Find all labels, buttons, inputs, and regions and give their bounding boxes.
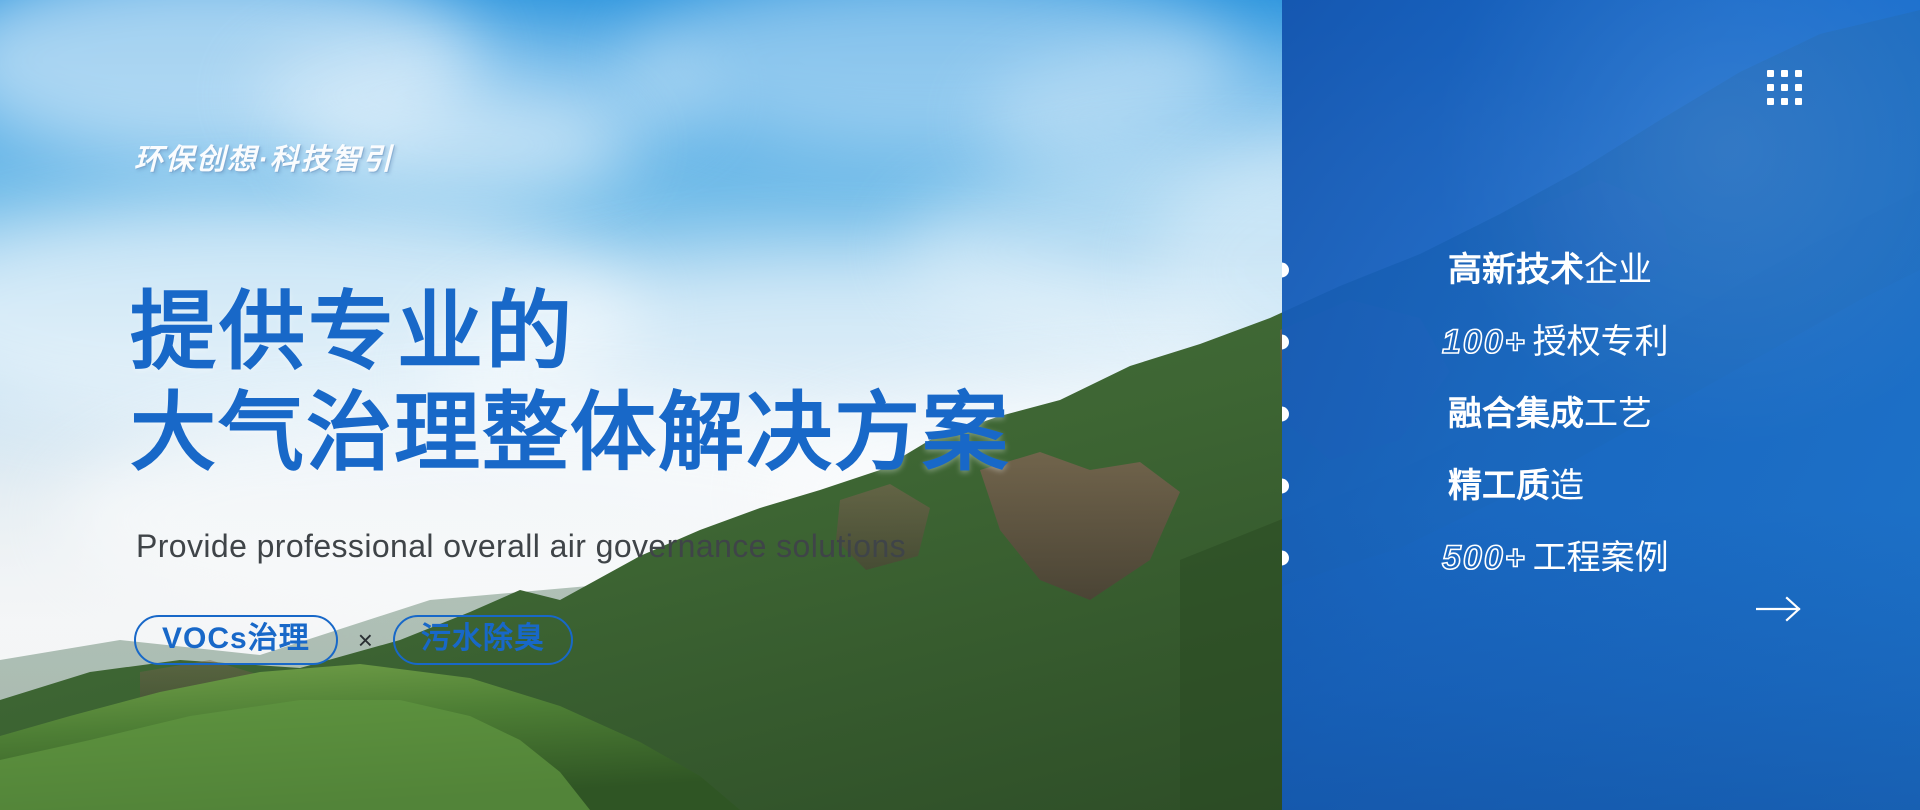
feature-panel: 高新技术企业 100+授权专利 融合集成工艺 精工质造: [1282, 0, 1920, 810]
grid-dot: [1781, 84, 1788, 91]
grid-dot: [1781, 98, 1788, 105]
grid-menu-icon[interactable]: [1767, 70, 1802, 105]
hero-tag-group: VOCs治理 × 污水除臭: [134, 615, 573, 665]
grid-dot: [1767, 98, 1774, 105]
grid-dot: [1767, 84, 1774, 91]
hero-subtitle: Provide professional overall air governa…: [136, 528, 906, 565]
bullet-dot-icon: [1282, 335, 1289, 350]
feature-label: 融合集成工艺: [1442, 397, 1652, 431]
feature-label: 高新技术企业: [1442, 253, 1652, 287]
feature-item: 100+授权专利: [1282, 306, 1920, 378]
feature-light: 造: [1550, 467, 1584, 505]
tag-pill-vocs[interactable]: VOCs治理: [134, 615, 338, 665]
feature-label: 精工质造: [1442, 469, 1584, 503]
bullet-dot-icon: [1282, 479, 1289, 494]
tag-pill-wastewater[interactable]: 污水除臭: [393, 615, 573, 665]
headline-line-2: 大气治理整体解决方案: [130, 383, 1010, 484]
arrow-right-icon[interactable]: [1756, 596, 1802, 622]
hero-banner: 环保创想·科技智引 提供专业的 大气治理整体解决方案 Provide profe…: [0, 0, 1920, 810]
feature-light: 工程案例: [1533, 539, 1669, 577]
feature-strong: 融合集成: [1448, 395, 1584, 433]
hero-tagline: 环保创想·科技智引: [134, 136, 394, 178]
bullet-dot-icon: [1282, 263, 1289, 278]
feature-label: 100+授权专利: [1442, 325, 1669, 359]
grid-dot: [1795, 70, 1802, 77]
grid-dot: [1795, 84, 1802, 91]
feature-number: 100+: [1442, 323, 1533, 361]
feature-item: 融合集成工艺: [1282, 378, 1920, 450]
feature-strong: 精工质: [1448, 467, 1550, 505]
bullet-dot-icon: [1282, 551, 1289, 566]
hero-left-content: 环保创想·科技智引 提供专业的 大气治理整体解决方案 Provide profe…: [0, 0, 1282, 810]
feature-strong: 高新技术: [1448, 251, 1584, 289]
grid-dot: [1795, 98, 1802, 105]
headline-line-1: 提供专业的: [130, 282, 1010, 383]
hero-headline: 提供专业的 大气治理整体解决方案: [130, 282, 1010, 483]
feature-label: 500+工程案例: [1442, 541, 1669, 575]
feature-light: 授权专利: [1533, 323, 1669, 361]
feature-list: 高新技术企业 100+授权专利 融合集成工艺 精工质造: [1282, 234, 1920, 594]
feature-light: 工艺: [1584, 395, 1652, 433]
feature-number: 500+: [1442, 539, 1533, 577]
grid-dot: [1781, 70, 1788, 77]
feature-item: 高新技术企业: [1282, 234, 1920, 306]
bullet-dot-icon: [1282, 407, 1289, 422]
feature-item: 500+工程案例: [1282, 522, 1920, 594]
feature-light: 企业: [1584, 251, 1652, 289]
grid-dot: [1767, 70, 1774, 77]
feature-item: 精工质造: [1282, 450, 1920, 522]
tag-separator-icon: ×: [356, 625, 375, 656]
